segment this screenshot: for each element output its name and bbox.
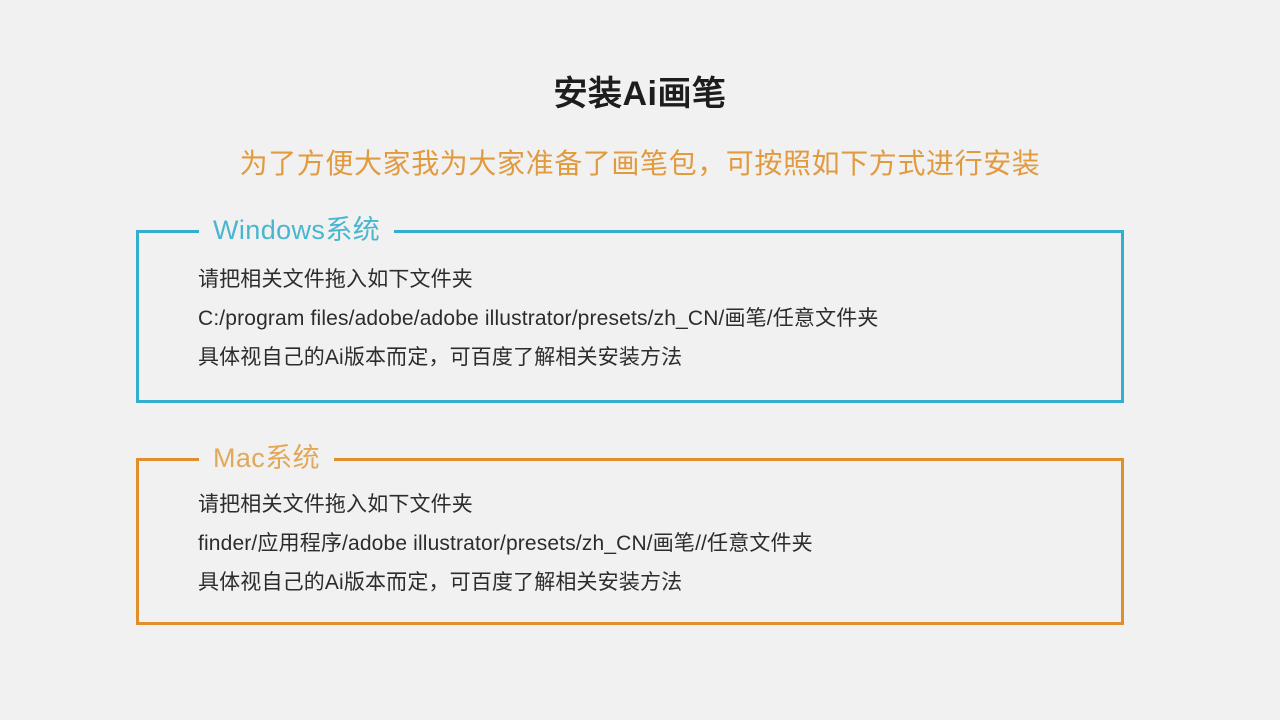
page-subtitle: 为了方便大家我为大家准备了画笔包，可按照如下方式进行安装	[0, 144, 1280, 184]
panel-windows-body: 请把相关文件拖入如下文件夹 C:/program files/adobe/ado…	[198, 260, 1109, 377]
panel-mac-line-3: 具体视自己的Ai版本而定，可百度了解相关安装方法	[198, 563, 1109, 602]
slide-canvas: 安装Ai画笔 为了方便大家我为大家准备了画笔包，可按照如下方式进行安装 Wind…	[0, 0, 1280, 720]
panel-mac-legend: Mac系统	[199, 439, 334, 477]
page-title: 安装Ai画笔	[0, 72, 1280, 116]
panel-mac-line-2: finder/应用程序/adobe illustrator/presets/zh…	[198, 524, 1109, 563]
panel-windows: Windows系统 请把相关文件拖入如下文件夹 C:/program files…	[136, 230, 1124, 403]
panel-windows-line-1: 请把相关文件拖入如下文件夹	[198, 260, 1109, 299]
panel-windows-line-3: 具体视自己的Ai版本而定，可百度了解相关安装方法	[198, 338, 1109, 377]
panel-mac-line-1: 请把相关文件拖入如下文件夹	[198, 485, 1109, 524]
panel-windows-legend: Windows系统	[199, 211, 394, 249]
panel-mac: Mac系统 请把相关文件拖入如下文件夹 finder/应用程序/adobe il…	[136, 458, 1124, 625]
panel-windows-line-2: C:/program files/adobe/adobe illustrator…	[198, 299, 1109, 338]
panel-mac-body: 请把相关文件拖入如下文件夹 finder/应用程序/adobe illustra…	[198, 485, 1109, 602]
